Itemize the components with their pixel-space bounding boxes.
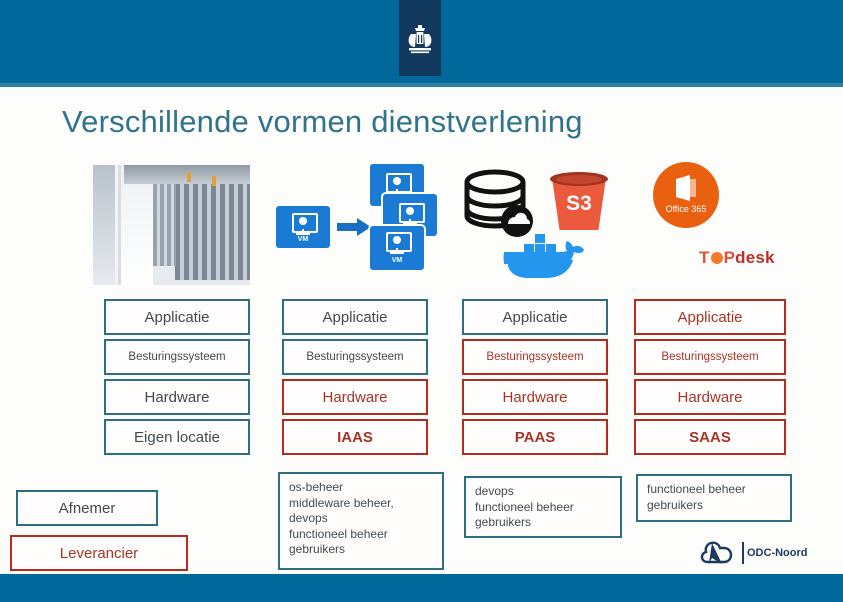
layer-applicatie[interactable]: Applicatie — [282, 299, 428, 335]
layer-applicatie[interactable]: Applicatie — [634, 299, 786, 335]
header-underline — [0, 83, 843, 87]
layer-hardware[interactable]: Hardware — [104, 379, 250, 415]
vm-base — [403, 223, 417, 225]
logo-divider — [742, 542, 744, 564]
layer-besturingssysteem[interactable]: Besturingssysteem — [104, 339, 250, 375]
vm-base — [390, 252, 404, 254]
legend-afnemer[interactable]: Afnemer — [16, 490, 158, 526]
office-365-label: Office 365 — [653, 204, 719, 214]
layer-hardware[interactable]: Hardware — [282, 379, 428, 415]
topdesk-desk: desk — [735, 248, 775, 267]
layer-saas[interactable]: SAAS — [634, 419, 786, 455]
topdesk-logo: TPdesk — [699, 248, 775, 268]
arrow-right-icon — [337, 218, 371, 236]
server-rack-left — [93, 165, 115, 285]
odc-noord-label: ODC-Noord — [747, 547, 808, 559]
docker-whale-icon — [500, 222, 584, 280]
note-saas: functioneel beheer gebruikers — [636, 474, 792, 522]
layer-applicatie[interactable]: Applicatie — [462, 299, 608, 335]
layer-besturingssysteem[interactable]: Besturingssysteem — [282, 339, 428, 375]
cloud-arrow-icon — [700, 540, 744, 570]
office-365-icon: Office 365 — [653, 162, 719, 228]
layer-besturingssysteem[interactable]: Besturingssysteem — [462, 339, 608, 375]
s3-bucket-rim-inner — [556, 175, 602, 184]
topdesk-p: P — [724, 248, 736, 267]
vm-target-card-3: VM — [370, 226, 424, 270]
vm-cloud-dot — [393, 177, 401, 185]
server-rack-right — [175, 170, 250, 280]
topdesk-t: T — [699, 248, 710, 267]
s3-label: S3 — [548, 192, 610, 216]
topdesk-o-circle — [711, 252, 723, 264]
odc-noord-logo: ODC-Noord — [700, 540, 820, 570]
legend-leverancier[interactable]: Leverancier — [10, 535, 188, 571]
vm-source-card: VM — [276, 206, 330, 248]
cable-marker-b — [212, 176, 216, 186]
layer-eigen-locatie[interactable]: Eigen locatie — [104, 419, 250, 455]
vm-source-label: VM — [276, 236, 330, 243]
vm-cloud-dot — [406, 207, 414, 215]
vm-target-label: VM — [370, 257, 424, 264]
layer-hardware[interactable]: Hardware — [462, 379, 608, 415]
layer-hardware[interactable]: Hardware — [634, 379, 786, 415]
vm-cloud-dot — [393, 236, 401, 244]
netherlands-government-crest-icon — [399, 18, 441, 64]
layer-iaas[interactable]: IAAS — [282, 419, 428, 455]
page-title: Verschillende vormen dienstverlening — [62, 104, 583, 140]
cable-marker-a — [187, 172, 191, 182]
layer-besturingssysteem[interactable]: Besturingssysteem — [634, 339, 786, 375]
layer-applicatie[interactable]: Applicatie — [104, 299, 250, 335]
layer-paas[interactable]: PAAS — [462, 419, 608, 455]
note-iaas: os-beheer middleware beheer, devops func… — [278, 472, 444, 570]
note-paas: devops functioneel beheer gebruikers — [464, 476, 622, 538]
office-doc-glyph — [674, 174, 698, 202]
vm-cloud-dot — [299, 217, 307, 225]
datacenter-photo — [93, 165, 250, 285]
server-rack-mid — [153, 179, 177, 265]
vm-base — [296, 233, 310, 235]
footer-bar — [0, 574, 843, 602]
